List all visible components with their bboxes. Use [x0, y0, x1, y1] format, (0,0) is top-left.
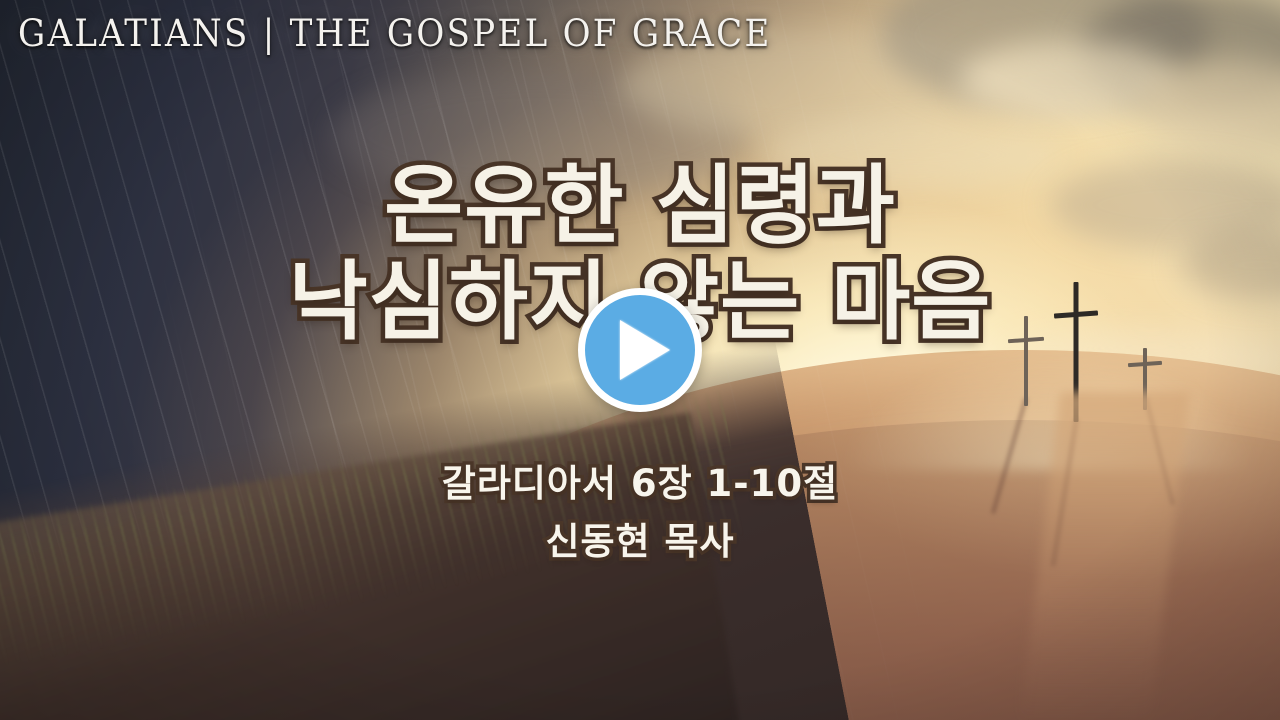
scripture-reference: 갈라디아서 6장 1-10절 — [0, 455, 1280, 513]
series-header: GALATIANS | THE GOSPEL OF GRACE — [18, 12, 772, 55]
sermon-title-line-1: 온유한 심령과 — [0, 158, 1280, 254]
play-triangle-icon — [620, 320, 670, 380]
play-button[interactable] — [578, 288, 702, 412]
speaker-name: 신동현 목사 — [0, 513, 1280, 571]
sermon-subtitle: 갈라디아서 6장 1-10절 신동현 목사 — [0, 455, 1280, 571]
video-thumbnail: GALATIANS | THE GOSPEL OF GRACE 온유한 심령과 … — [0, 0, 1280, 720]
